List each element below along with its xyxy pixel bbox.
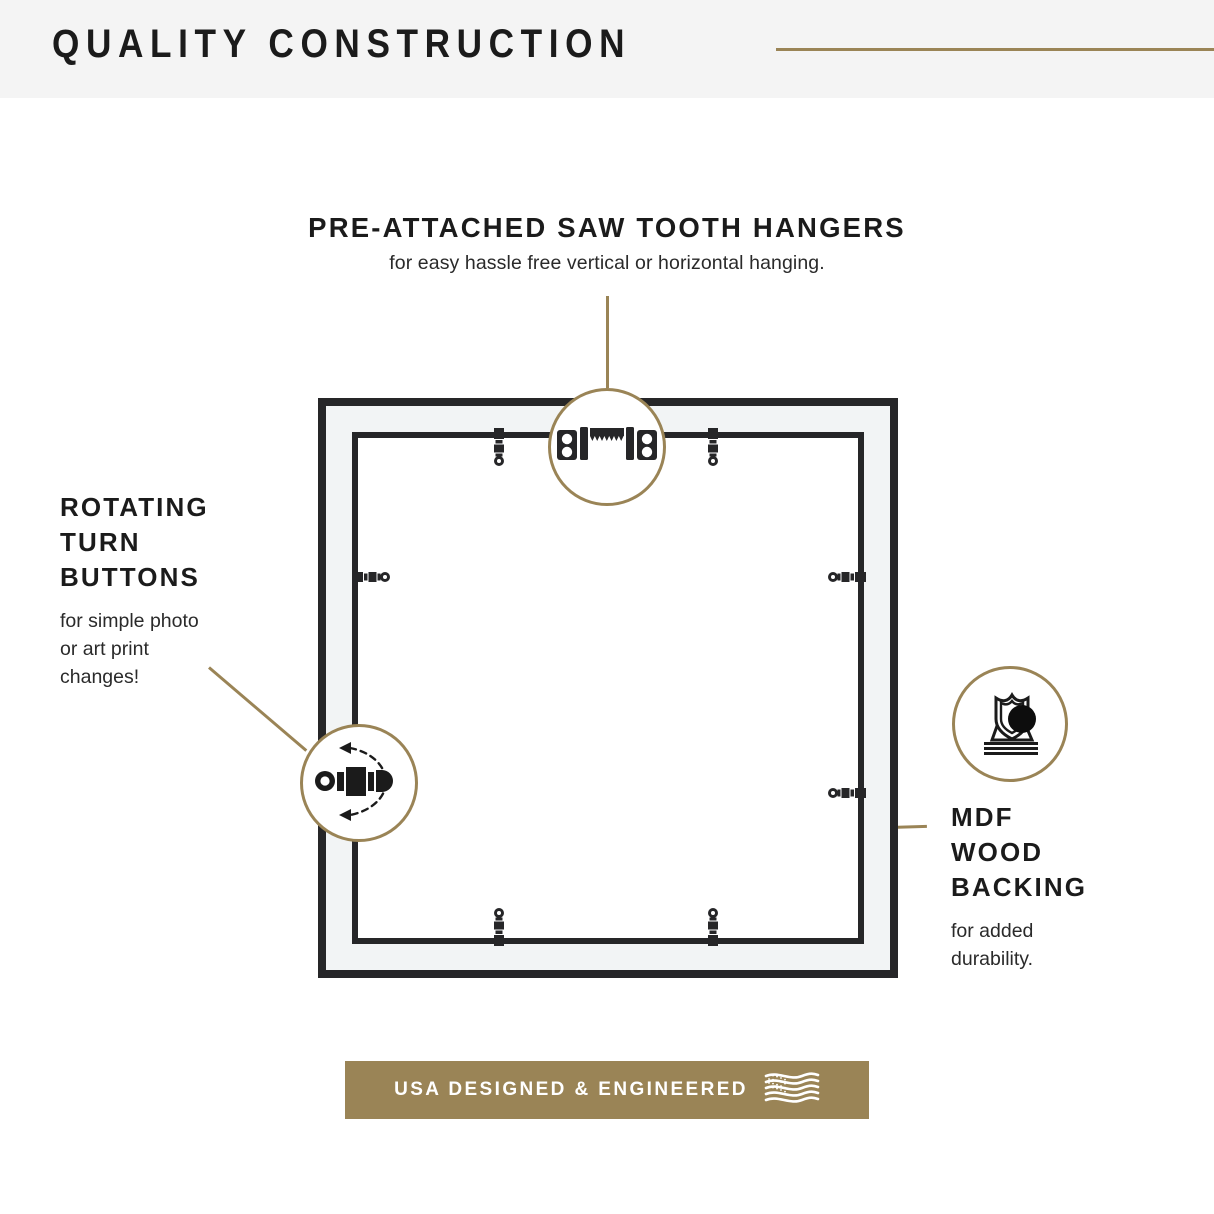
turn-button-left-middle [352,570,390,584]
callout-left-subtitle: for simple photo or art print changes! [60,607,310,691]
turn-button-top-left [492,428,506,466]
mdf-shield-backing-icon [970,686,1050,763]
turn-button-bottom-left [492,908,506,946]
infographic-page: QUALITY CONSTRUCTION PRE-ATTACHED SAW TO… [0,0,1214,1214]
callout-right-title-line-1: MDF [951,800,1201,835]
callout-right-title-line-3: BACKING [951,870,1201,905]
callout-left-title-line-1: ROTATING [60,490,310,525]
callout-top-subtitle: for easy hassle free vertical or horizon… [0,252,1214,275]
turn-button-right-upper [828,570,866,584]
callout-left: ROTATING TURN BUTTONS for simple photo o… [60,490,310,691]
callout-left-title-line-2: TURN [60,525,310,560]
callout-right-subtitle: for added durability. [951,917,1201,973]
detail-circle-saw-tooth-hanger [548,388,666,506]
detail-circle-rotating-turn-button [300,724,418,842]
header-band: QUALITY CONSTRUCTION [0,0,1214,98]
callout-left-subtitle-line-3: changes! [60,663,310,691]
header-rule [776,48,1214,51]
detail-circle-mdf-wood-backing [952,666,1068,782]
callout-left-subtitle-line-1: for simple photo [60,607,310,635]
callout-top: PRE-ATTACHED SAW TOOTH HANGERS for easy … [0,212,1214,275]
callout-right: MDF WOOD BACKING for added durability. [951,800,1201,973]
callout-left-subtitle-line-2: or art print [60,635,310,663]
page-title: QUALITY CONSTRUCTION [52,22,631,67]
usa-designed-banner: USA DESIGNED & ENGINEERED [345,1061,869,1119]
turn-button-top-right [706,428,720,466]
usa-banner-label: USA DESIGNED & ENGINEERED [394,1079,748,1101]
saw-tooth-hanger-icon [555,416,659,479]
callout-right-title-line-2: WOOD [951,835,1201,870]
callout-right-title: MDF WOOD BACKING [951,800,1201,905]
callout-left-title: ROTATING TURN BUTTONS [60,490,310,595]
rotating-turn-button-icon [309,735,409,832]
usa-flag-icon [764,1070,820,1111]
turn-button-bottom-right [706,908,720,946]
leader-line-top [606,296,609,388]
callout-top-title: PRE-ATTACHED SAW TOOTH HANGERS [0,212,1214,244]
callout-left-title-line-3: BUTTONS [60,560,310,595]
callout-right-subtitle-line-1: for added [951,917,1201,945]
frame-inner-opening [352,432,864,944]
turn-button-right-lower [828,786,866,800]
callout-right-subtitle-line-2: durability. [951,945,1201,973]
